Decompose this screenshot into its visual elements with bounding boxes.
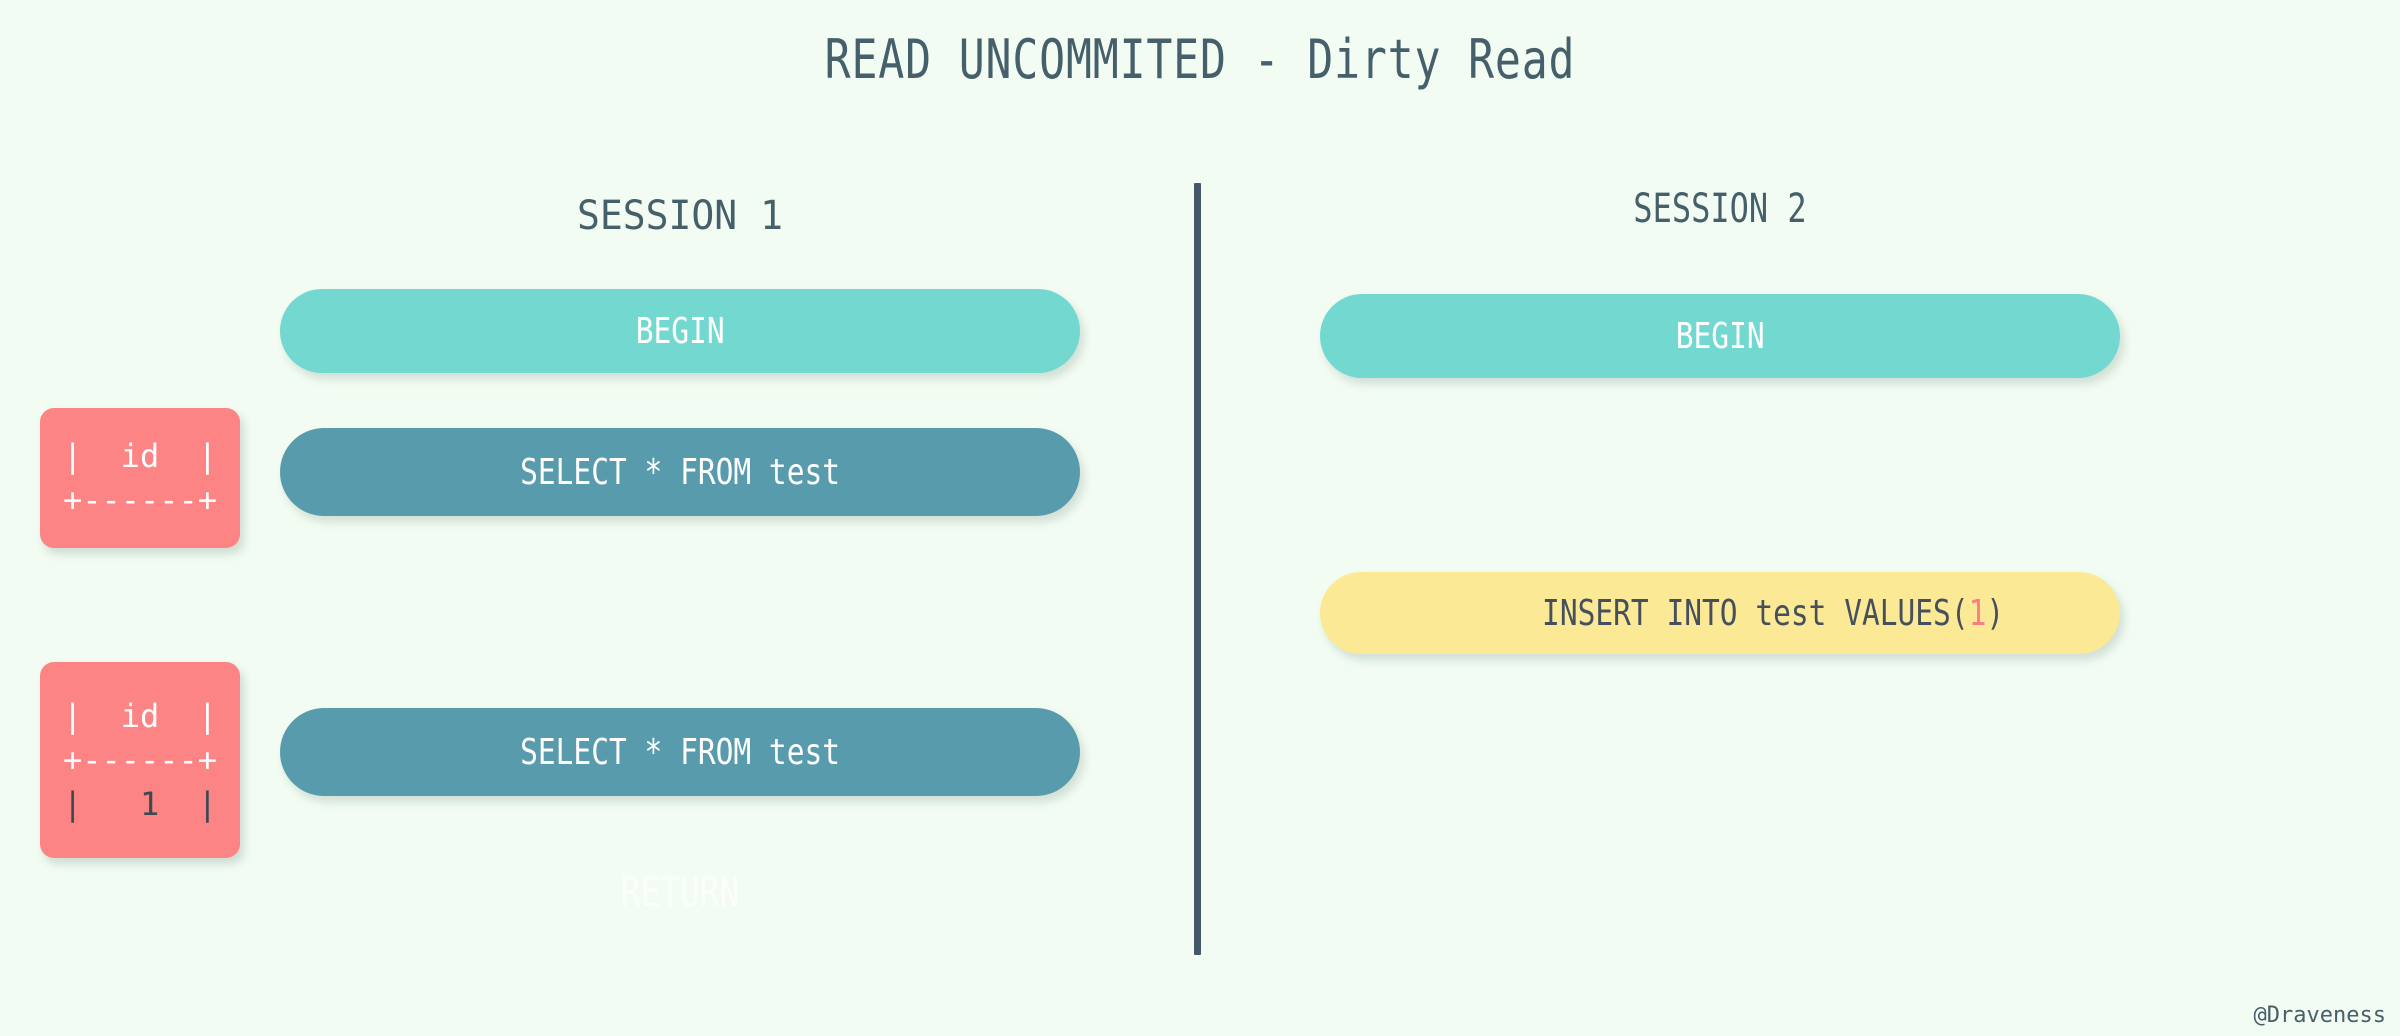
statement-label: INSERT INTO test VALUES(1) (1436, 552, 2005, 675)
statement-text-suffix: ) (1987, 593, 2005, 634)
session-1-return-label: RETURN (352, 870, 1008, 916)
watermark: @Draveness (2254, 1003, 2386, 1028)
page-title: READ UNCOMMITED - Dirty Read (240, 28, 2160, 91)
session-1-select-statement-1[interactable]: SELECT * FROM test (280, 428, 1080, 516)
result-table-empty: | id | +------+ (40, 408, 240, 548)
result-row: | 1 | (63, 782, 217, 826)
statement-label: BEGIN (1676, 316, 1765, 357)
diagram-canvas: READ UNCOMMITED - Dirty Read SESSION 1 S… (0, 0, 2400, 1036)
result-row: +------+ (63, 478, 217, 522)
result-row: +------+ (63, 738, 217, 782)
session-1-begin-statement[interactable]: BEGIN (280, 289, 1080, 373)
session-divider (1194, 183, 1201, 955)
session-1-select-statement-2[interactable]: SELECT * FROM test (280, 708, 1080, 796)
statement-label: SELECT * FROM test (520, 732, 840, 773)
session-2-begin-statement[interactable]: BEGIN (1320, 294, 2120, 378)
result-row: | id | (63, 434, 217, 478)
session-2-insert-statement[interactable]: INSERT INTO test VALUES(1) (1320, 572, 2120, 654)
session-2-label: SESSION 2 (1400, 186, 2040, 232)
result-row: | id | (63, 694, 217, 738)
statement-value-highlight: 1 (1969, 593, 1987, 634)
statement-label: SELECT * FROM test (520, 452, 840, 493)
statement-text-prefix: INSERT INTO test VALUES( (1542, 593, 1969, 634)
result-table-dirty-row: | id | +------+ | 1 | (40, 662, 240, 858)
statement-label: BEGIN (636, 311, 725, 352)
session-1-label: SESSION 1 (300, 193, 1060, 239)
